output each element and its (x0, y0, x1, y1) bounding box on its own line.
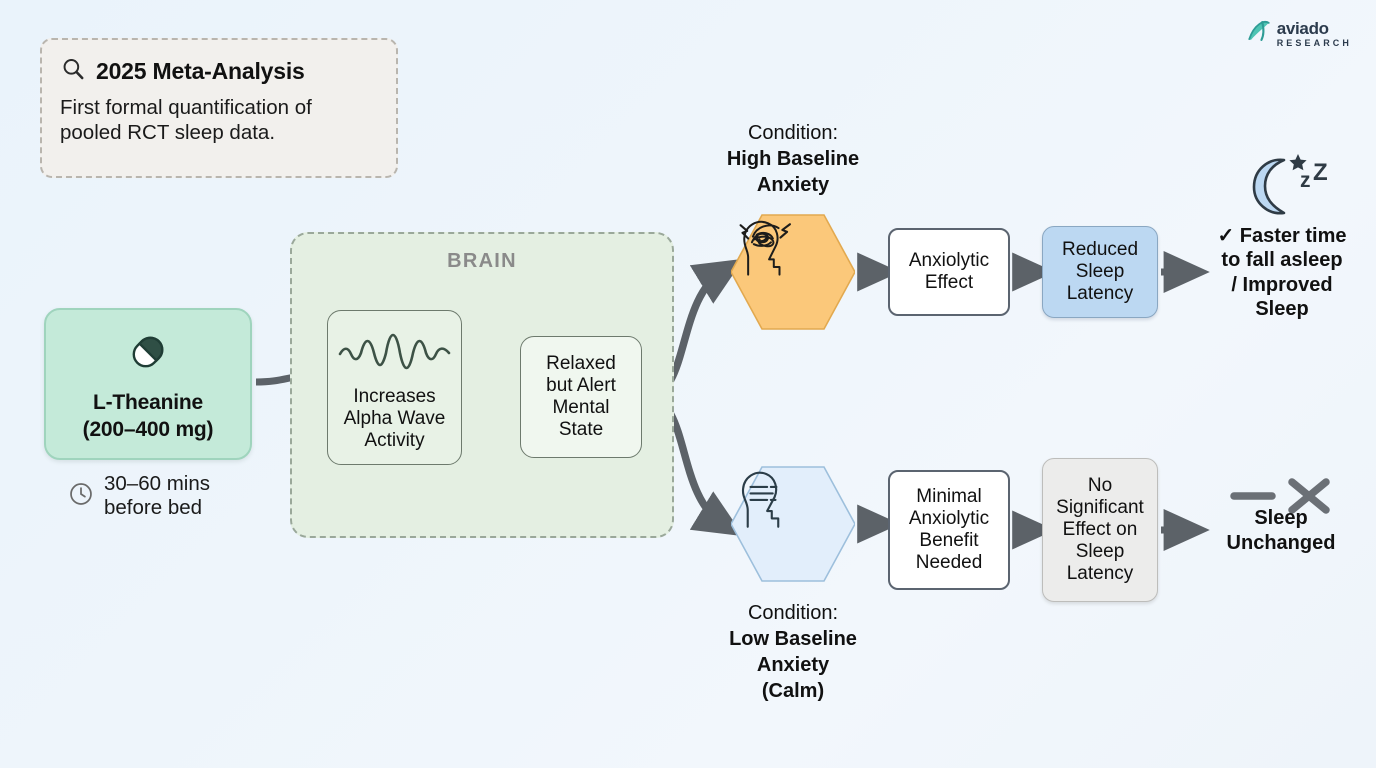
node-no-significant-effect[interactable]: No Significant Effect on Sleep Latency (1042, 458, 1158, 602)
cond-low-line2: Anxiety (678, 652, 908, 678)
logo-subtitle: RESEARCH (1277, 39, 1352, 48)
brain-group-title: BRAIN (290, 250, 674, 273)
alpha-line1: Increases (353, 386, 435, 408)
nosig-line4: Sleep (1056, 541, 1144, 563)
anxious-head-icon (731, 210, 855, 334)
outbad-line2: Unchanged (1196, 531, 1366, 556)
outgood-line4: Sleep (1196, 297, 1368, 321)
condition-low-anxiety-label: Condition: Low Baseline Anxiety (Calm) (678, 600, 908, 704)
callout-body: First formal quantification of pooled RC… (60, 95, 378, 145)
anxiolytic-line2: Effect (909, 272, 989, 294)
node-mental-state[interactable]: Relaxed but Alert Mental State (520, 336, 642, 458)
state-line2: but Alert (546, 375, 616, 397)
state-line1: Relaxed (546, 353, 616, 375)
hex-high-baseline-anxiety[interactable] (731, 210, 855, 334)
minimal-line2: Anxiolytic (909, 508, 989, 530)
minimal-line1: Minimal (909, 486, 989, 508)
timing-line2: before bed (104, 496, 210, 520)
calm-head-icon (731, 462, 855, 586)
state-line3: Mental (546, 397, 616, 419)
nosig-line2: Significant (1056, 497, 1144, 519)
outcome-improved-sleep: ✓ Faster time to fall asleep / Improved … (1196, 224, 1368, 322)
outgood-line2: to fall asleep (1196, 248, 1368, 272)
svg-text:z: z (1300, 169, 1311, 192)
pill-capsule-icon (120, 326, 176, 383)
outgood-line1: Faster time (1240, 225, 1347, 247)
diagram-canvas: 2025 Meta-Analysis First formal quantifi… (0, 0, 1376, 768)
cond-high-prefix: Condition: (678, 120, 908, 146)
magnifier-icon (60, 56, 86, 87)
cond-high-line2: Anxiety (678, 172, 908, 198)
alpha-line2: Alpha Wave (344, 408, 446, 430)
nosig-line1: No (1056, 475, 1144, 497)
node-alpha-wave[interactable]: Increases Alpha Wave Activity (327, 310, 462, 465)
node-reduced-sleep-latency[interactable]: Reduced Sleep Latency (1042, 226, 1158, 318)
nosig-line5: Latency (1056, 563, 1144, 585)
node-l-theanine[interactable]: L-Theanine (200–400 mg) (44, 308, 252, 460)
hex-low-baseline-anxiety[interactable] (731, 462, 855, 586)
callout-title: 2025 Meta-Analysis (96, 58, 305, 85)
theanine-line1: L-Theanine (93, 391, 203, 415)
svg-text:Z: Z (1313, 159, 1328, 186)
anxiolytic-line1: Anxiolytic (909, 250, 989, 272)
outcome-sleep-unchanged: Sleep Unchanged (1196, 506, 1366, 556)
cond-low-line1: Low Baseline (678, 626, 908, 652)
reduced-line1: Reduced (1062, 239, 1138, 261)
clock-icon (68, 481, 94, 512)
condition-high-anxiety-label: Condition: High Baseline Anxiety (678, 120, 908, 198)
cond-low-prefix: Condition: (678, 600, 908, 626)
timing-line1: 30–60 mins (104, 472, 210, 496)
outgood-line3: / Improved (1196, 273, 1368, 297)
alpha-wave-icon (336, 327, 454, 382)
cond-high-line1: High Baseline (678, 146, 908, 172)
node-minimal-anxiolytic-benefit[interactable]: Minimal Anxiolytic Benefit Needed (888, 470, 1010, 590)
moon-zzz-icon: z Z (1238, 148, 1330, 227)
aviado-research-logo: aviado RESEARCH (1246, 18, 1352, 49)
minimal-line4: Needed (909, 552, 989, 574)
nosig-line3: Effect on (1056, 519, 1144, 541)
outbad-line1: Sleep (1196, 506, 1366, 531)
alpha-line3: Activity (364, 430, 424, 452)
theanine-line2: (200–400 mg) (83, 418, 214, 442)
minimal-line3: Benefit (909, 530, 989, 552)
reduced-line3: Latency (1062, 283, 1138, 305)
aviado-mark-icon (1246, 18, 1272, 49)
cond-low-line3: (Calm) (678, 678, 908, 704)
reduced-line2: Sleep (1062, 261, 1138, 283)
timing-note: 30–60 mins before bed (68, 472, 210, 520)
check-icon: ✓ (1217, 225, 1234, 247)
meta-analysis-callout: 2025 Meta-Analysis First formal quantifi… (40, 38, 398, 178)
node-anxiolytic-effect[interactable]: Anxiolytic Effect (888, 228, 1010, 316)
logo-brand: aviado (1277, 20, 1352, 37)
state-line4: State (546, 419, 616, 441)
